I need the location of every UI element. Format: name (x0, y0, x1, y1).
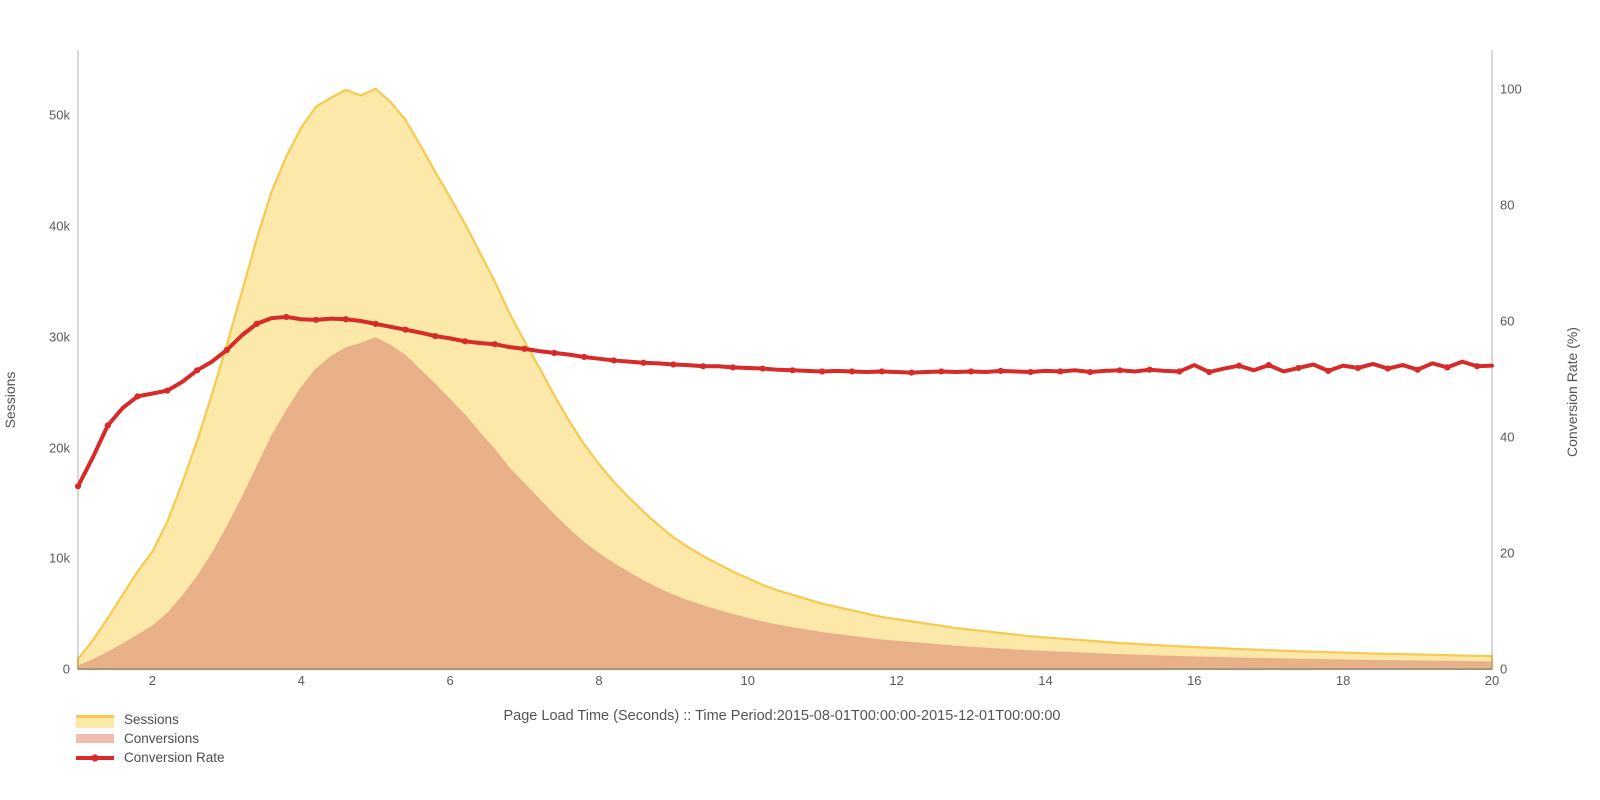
legend-item-label: Sessions (124, 710, 179, 729)
area-swatch-pink-icon (76, 729, 114, 748)
x-axis-ticks-label: 10 (741, 673, 755, 688)
y-axis-right-ticks-label: 20 (1500, 546, 1514, 561)
y-axis-left-ticks-label: 30k (49, 329, 70, 344)
y-axis-right-ticks-label: 60 (1500, 314, 1514, 329)
x-axis-title: Page Load Time (Seconds) :: Time Period:… (504, 708, 1061, 724)
area-swatch-yellow-icon (76, 710, 114, 729)
y-axis-left-ticks-label: 10k (49, 551, 70, 566)
x-axis-ticks-label: 12 (889, 673, 903, 688)
x-axis-ticks-label: 16 (1187, 673, 1201, 688)
chart-legend: SessionsConversionsConversion Rate (76, 710, 225, 767)
conversion-rate-swatch-line (76, 748, 114, 767)
y-axis-right-ticks-label: 80 (1500, 198, 1514, 213)
y-axis-right-ticks-label: 0 (1500, 662, 1507, 677)
y-axis-left-ticks-label: 50k (49, 108, 70, 123)
y-axis-left-ticks-label: 40k (49, 219, 70, 234)
legend-item[interactable]: Conversion Rate (76, 748, 225, 767)
y-axis-right-ticks-label: 100 (1500, 82, 1522, 97)
conversions-swatch-fill (76, 734, 114, 743)
x-axis-ticks-label: 18 (1336, 673, 1350, 688)
x-axis-ticks-label: 6 (446, 673, 453, 688)
y-axis-left-ticks-label: 0 (63, 662, 70, 677)
y-axis-right-title: Conversion Rate (%) (1564, 327, 1580, 457)
legend-item-label: Conversion Rate (124, 748, 225, 767)
y-axis-left-title: Sessions (2, 372, 18, 429)
x-axis-ticks-label: 14 (1038, 673, 1052, 688)
x-axis-ticks-label: 8 (595, 673, 602, 688)
y-axis-left-ticks-label: 20k (49, 440, 70, 455)
legend-item[interactable]: Sessions (76, 710, 225, 729)
line-swatch-red-icon (76, 748, 114, 767)
legend-item-label: Conversions (124, 729, 199, 748)
x-axis-ticks-label: 4 (298, 673, 305, 688)
sessions-swatch-fill (76, 715, 114, 728)
chart-container: Sessions Conversion Rate (%) Page Load T… (0, 0, 1600, 800)
x-axis-ticks-label: 2 (149, 673, 156, 688)
legend-item[interactable]: Conversions (76, 729, 225, 748)
y-axis-right-ticks-label: 40 (1500, 430, 1514, 445)
chart-plot-area (0, 0, 1600, 800)
x-axis-ticks-label: 20 (1485, 673, 1499, 688)
